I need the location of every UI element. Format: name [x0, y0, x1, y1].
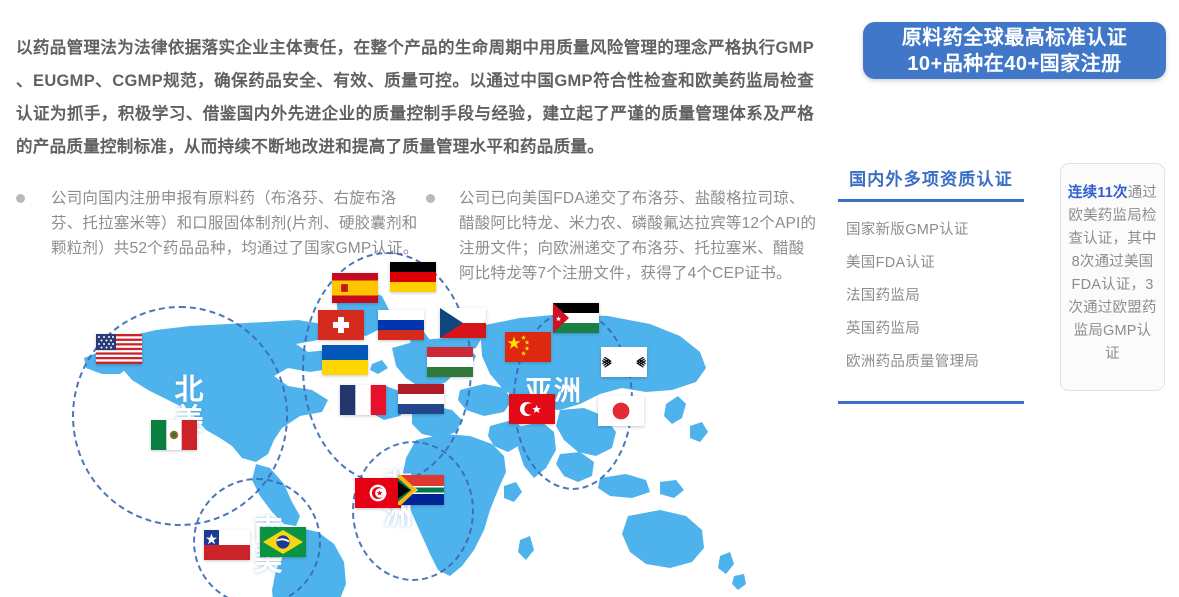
flag-china-icon	[505, 332, 551, 362]
flag-germany-icon	[390, 262, 436, 292]
flag-turkey-icon	[509, 394, 555, 424]
flag-tunisia-icon	[355, 478, 401, 508]
flag-united-states-icon	[96, 334, 142, 364]
flag-south-africa-icon	[398, 475, 444, 505]
flag-brazil-icon	[260, 527, 306, 557]
flag-chile-icon	[204, 530, 250, 560]
audit-highlight-emphasis: 连续11次	[1068, 185, 1128, 201]
badge-line-2: 10+品种在40+国家注册	[907, 51, 1121, 77]
bullet-dot-icon	[426, 194, 435, 203]
certifications-list: 国家新版GMP认证 美国FDA认证 法国药监局 英国药监局 欧洲药品质量管理局	[838, 202, 1024, 389]
cert-item[interactable]: 英国药监局	[846, 313, 1024, 346]
flag-netherlands-icon	[398, 384, 444, 414]
bullet-dot-icon	[16, 194, 25, 203]
badge-line-1: 原料药全球最高标准认证	[902, 25, 1128, 51]
cert-item[interactable]: 国家新版GMP认证	[846, 214, 1024, 247]
cert-item[interactable]: 法国药监局	[846, 280, 1024, 313]
flag-switzerland-icon	[318, 310, 364, 340]
flag-ukraine-icon	[322, 345, 368, 375]
flag-hungary-icon	[427, 347, 473, 377]
audit-highlight-card: 连续11次通过欧美药监局检查认证，其中8次通过美国FDA认证，3次通过欧盟药监局…	[1060, 163, 1165, 391]
certifications-divider-bottom	[838, 401, 1024, 404]
certification-badge: 原料药全球最高标准认证 10+品种在40+国家注册	[863, 22, 1166, 79]
flag-mexico-icon	[151, 420, 197, 450]
flag-south-korea-icon	[601, 347, 647, 377]
flag-russia-icon	[378, 310, 424, 340]
flag-france-icon	[340, 385, 386, 415]
cert-item[interactable]: 美国FDA认证	[846, 247, 1024, 280]
certifications-title: 国内外多项资质认证	[838, 165, 1024, 199]
audit-highlight-text: 通过欧美药监局检查认证，其中8次通过美国FDA认证，3次通过欧盟药监局GMP认证	[1068, 185, 1157, 362]
flag-jordan-icon	[553, 303, 599, 333]
page-root: 以药品管理法为法律依据落实企业主体责任，在整个产品的生命周期中用质量风险管理的理…	[0, 0, 1179, 597]
flag-czech-republic-icon	[440, 308, 486, 338]
certifications-panel: 国内外多项资质认证 国家新版GMP认证 美国FDA认证 法国药监局 英国药监局 …	[838, 165, 1024, 404]
flag-spain-icon	[332, 273, 378, 303]
flag-japan-icon	[598, 396, 644, 426]
cert-item[interactable]: 欧洲药品质量管理局	[846, 346, 1024, 379]
intro-paragraph: 以药品管理法为法律依据落实企业主体责任，在整个产品的生命周期中用质量风险管理的理…	[16, 32, 814, 164]
